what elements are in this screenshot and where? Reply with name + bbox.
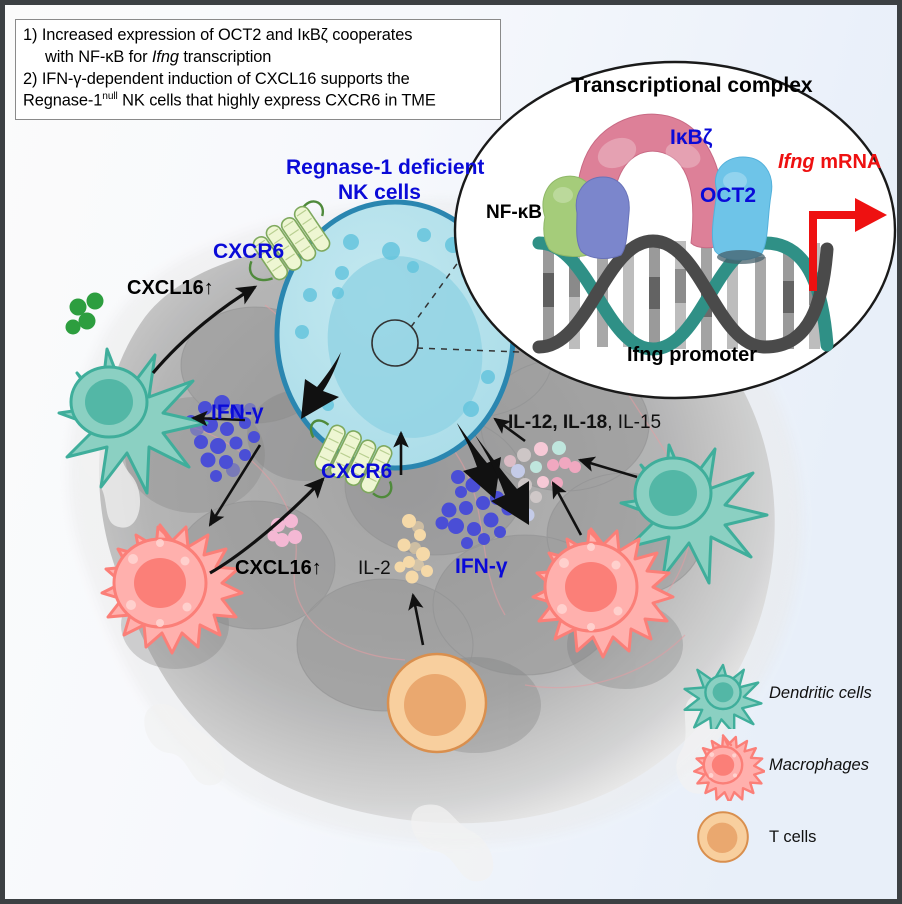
oct2-label: OCT2: [700, 185, 756, 207]
dendritic-cell-icon: [681, 657, 765, 729]
cxcr6-label-top: CXCR6: [213, 241, 284, 263]
oct2-protein: [712, 157, 771, 260]
legend-item-dendritic: Dendritic cells: [681, 657, 887, 729]
legend-label-dendritic: Dendritic cells: [765, 684, 872, 703]
caption-line-3: 2) IFN-γ-dependent induction of CXCL16 s…: [23, 69, 494, 91]
nfkb-label: NF-κB: [486, 203, 542, 223]
t-cell-icon: [681, 801, 765, 873]
nk-cell-title-line1: Regnase-1 deficient: [286, 157, 484, 179]
caption-box: 1) Increased expression of OCT2 and IκBζ…: [15, 19, 501, 120]
legend: Dendritic cells Macrophages: [681, 657, 887, 873]
ifng-label-center: IFN-γ: [455, 556, 508, 578]
legend-label-macrophage: Macrophages: [765, 756, 869, 775]
il2-label: IL-2: [358, 559, 391, 579]
nk-cell-title-line2: NK cells: [338, 182, 421, 204]
caption-line-2: with NF-κB for Ifng transcription: [23, 47, 494, 69]
ikbzeta-label: IκBζ: [670, 127, 712, 149]
legend-item-macrophage: Macrophages: [681, 729, 887, 801]
cxcl16-label-bottom: CXCL16↑: [235, 558, 322, 579]
legend-label-tcell: T cells: [765, 828, 816, 847]
cxcl16-label-top: CXCL16↑: [127, 278, 214, 299]
ifng-promoter-label: Ifng promoter: [627, 345, 757, 366]
legend-item-tcell: T cells: [681, 801, 887, 873]
nfkb-blue-subunit: [576, 177, 629, 258]
cxcr6-label-bottom: CXCR6: [321, 461, 392, 483]
caption-line-4: Regnase-1null NK cells that highly expre…: [23, 90, 494, 112]
ifng-label-left: IFN-γ: [211, 402, 264, 424]
macrophage-icon: [681, 729, 765, 801]
figure-panel: 1) Increased expression of OCT2 and IκBζ…: [0, 0, 902, 904]
caption-line-1: 1) Increased expression of OCT2 and IκBζ…: [23, 25, 494, 47]
il12-il18-il15-label: IL-12, IL-18, IL-15: [508, 413, 661, 433]
inset-title: Transcriptional complex: [571, 75, 813, 97]
t-cell-main: [388, 654, 486, 752]
ifng-mrna-label: Ifng mRNA: [778, 152, 881, 173]
